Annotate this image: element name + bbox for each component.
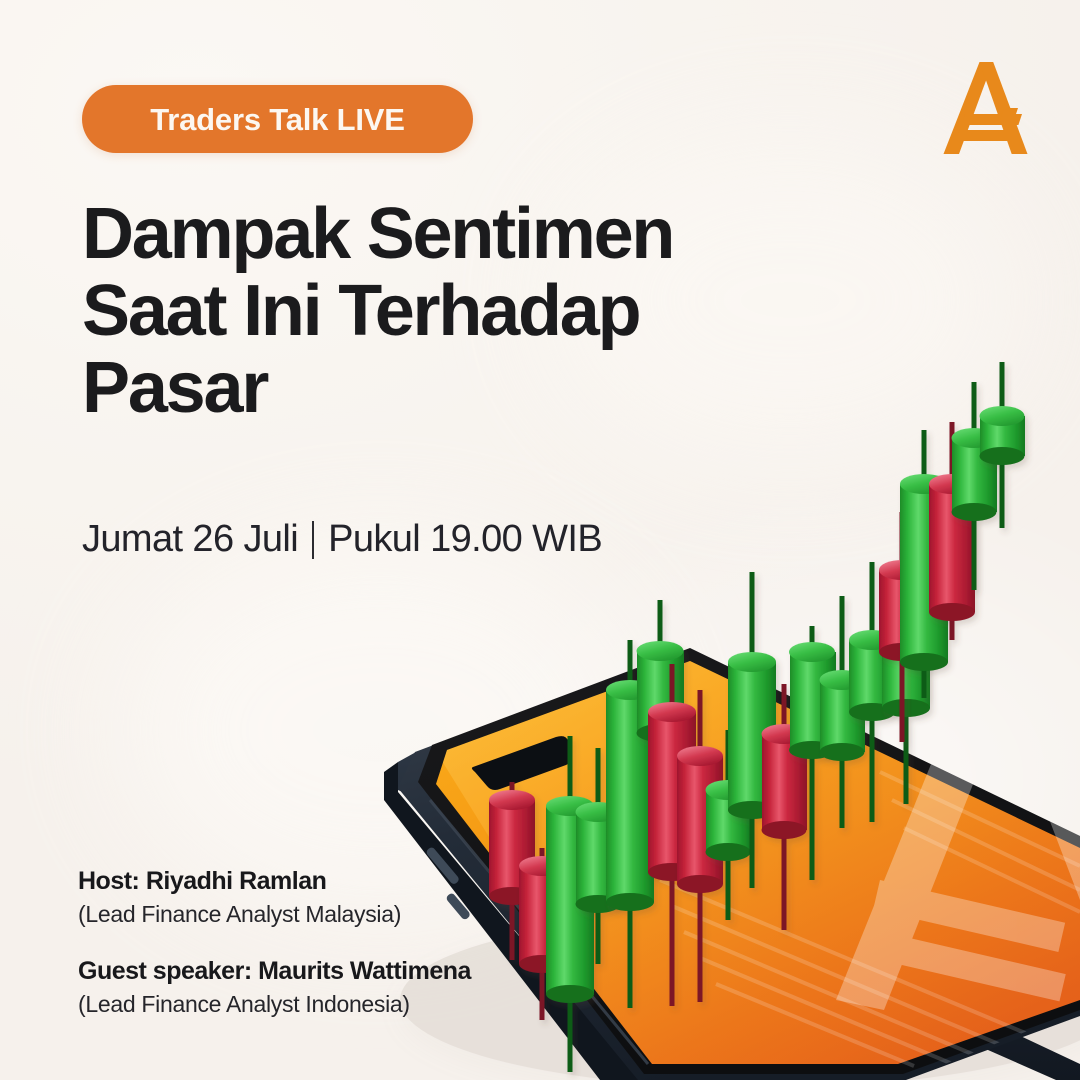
octa-a-logo	[932, 58, 1040, 158]
headline-line-3: Pasar	[82, 350, 842, 427]
event-time: Pukul 19.00 WIB	[328, 518, 602, 561]
credit-host-name: Host: Riyadhi Ramlan	[78, 866, 471, 897]
background-glow-left	[120, 540, 640, 920]
live-badge-label: Traders Talk LIVE	[150, 104, 404, 135]
page-title: Dampak Sentimen Saat Ini Terhadap Pasar	[82, 196, 842, 427]
credit-host-role: (Lead Finance Analyst Malaysia)	[78, 900, 471, 930]
headline-line-1: Dampak Sentimen	[82, 196, 842, 273]
credit-guest: Guest speaker: Maurits Wattimena (Lead F…	[78, 956, 471, 1020]
credit-host: Host: Riyadhi Ramlan (Lead Finance Analy…	[78, 866, 471, 930]
credit-guest-role: (Lead Finance Analyst Indonesia)	[78, 990, 471, 1020]
event-datetime: Jumat 26 Juli Pukul 19.00 WIB	[82, 518, 602, 561]
event-date: Jumat 26 Juli	[82, 518, 298, 561]
credit-guest-name: Guest speaker: Maurits Wattimena	[78, 956, 471, 987]
headline-line-2: Saat Ini Terhadap	[82, 273, 842, 350]
poster-canvas: Traders Talk LIVE Dampak Sentimen Saat I…	[0, 0, 1080, 1080]
speaker-credits: Host: Riyadhi Ramlan (Lead Finance Analy…	[78, 866, 471, 1020]
live-badge[interactable]: Traders Talk LIVE	[82, 85, 473, 153]
datetime-separator	[312, 521, 314, 559]
